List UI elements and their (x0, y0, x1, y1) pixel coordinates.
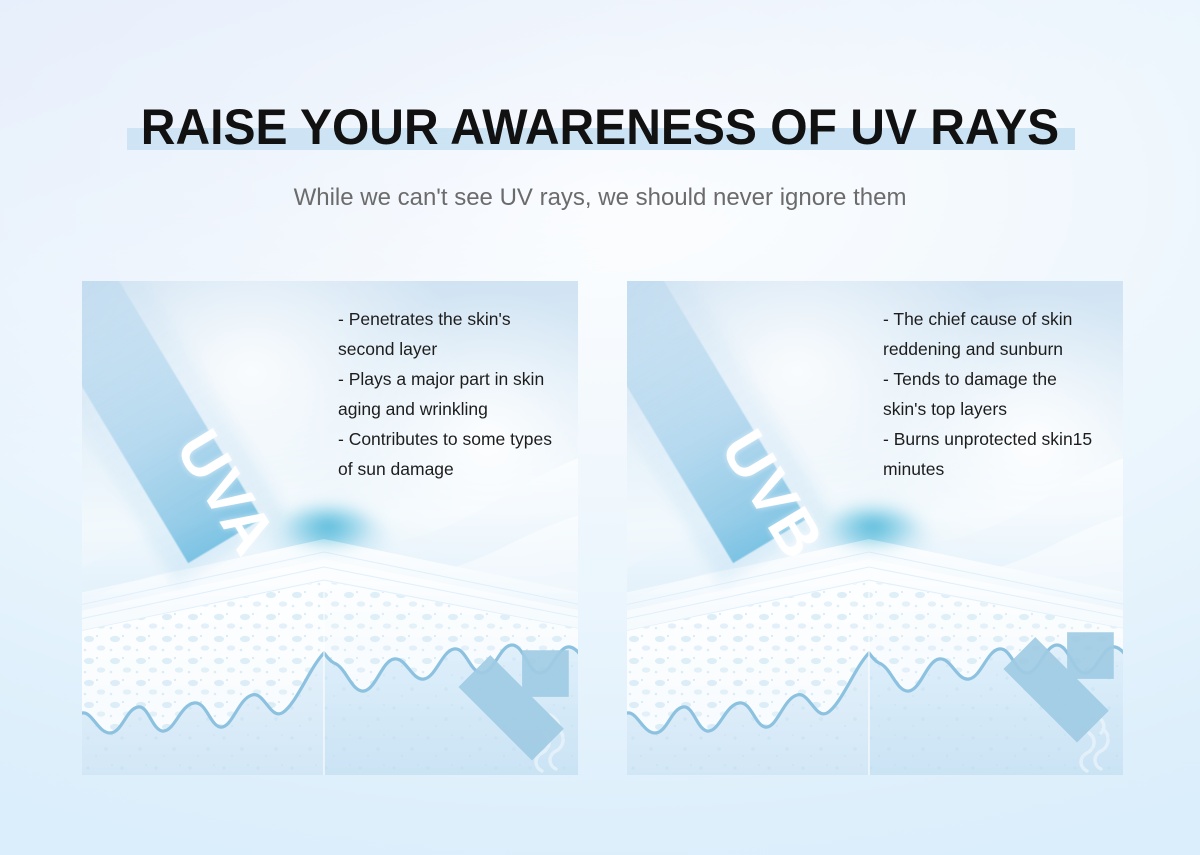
uvb-bullet-1: - The chief cause of skin reddening and … (883, 304, 1101, 364)
uvb-bullet-2: - Tends to damage the skin's top layers (883, 364, 1101, 424)
uv-beam-hotspot-icon (268, 495, 388, 557)
uvb-beam-label: UVB (707, 418, 838, 572)
uvb-bullet-list: - The chief cause of skin reddening and … (883, 304, 1101, 484)
uva-beam-label: UVA (162, 418, 291, 568)
uv-beam-icon (82, 281, 262, 563)
penetration-arrow-icon (1003, 595, 1123, 742)
uv-beam-icon (627, 281, 807, 563)
page-background: RAISE YOUR AWARENESS OF UV RAYS While we… (0, 0, 1200, 855)
uva-bullet-1: - Penetrates the skin's second layer (338, 304, 556, 364)
uva-bullet-3: - Contributes to some types of sun damag… (338, 424, 556, 484)
uva-panel[interactable]: UVA - Penetrates the skin's second layer… (82, 281, 578, 775)
uv-beam-halo-icon (82, 281, 289, 585)
uva-bullet-list: - Penetrates the skin's second layer - P… (338, 304, 556, 484)
page-title: RAISE YOUR AWARENESS OF UV RAYS (24, 96, 1176, 158)
uvb-panel[interactable]: UVB - The chief cause of skin reddening … (627, 281, 1123, 775)
page-subtitle: While we can't see UV rays, we should ne… (0, 181, 1200, 215)
uv-beam-hotspot-icon (813, 495, 933, 557)
uvb-bullet-3: - Burns unprotected skin15 minutes (883, 424, 1101, 484)
uva-bullet-2: - Plays a major part in skin aging and w… (338, 364, 556, 424)
page-title-wrap: RAISE YOUR AWARENESS OF UV RAYS (0, 96, 1200, 158)
penetration-arrow-icon (458, 613, 578, 760)
uv-beam-halo-icon (627, 281, 834, 585)
